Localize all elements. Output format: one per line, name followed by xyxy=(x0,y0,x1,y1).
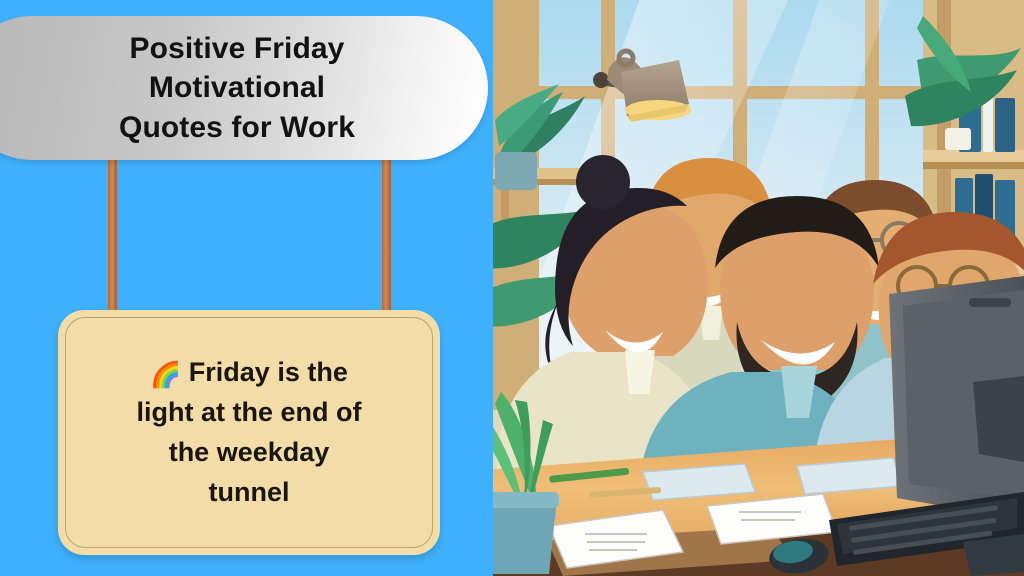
quote-line-2: light at the end of xyxy=(137,397,362,427)
rainbow-icon: 🌈 xyxy=(150,361,181,389)
quote-line-3: the weekday xyxy=(169,437,330,467)
title-banner: Positive Friday Motivational Quotes for … xyxy=(0,16,488,160)
hair-bun xyxy=(576,155,630,209)
title-line-1: Positive Friday Motivational xyxy=(130,32,345,105)
right-post xyxy=(382,140,391,322)
page-title: Positive Friday Motivational Quotes for … xyxy=(0,29,488,148)
title-line-2: Quotes for Work xyxy=(119,111,355,144)
computer-monitor xyxy=(889,276,1024,520)
quote-line-1: Friday is the xyxy=(189,357,348,387)
quote-card: 🌈 Friday is the light at the end of the … xyxy=(58,310,440,555)
poster-canvas: Positive Friday Motivational Quotes for … xyxy=(0,0,1024,576)
monitor-stand xyxy=(973,376,1024,462)
office-team-illustration xyxy=(493,0,1024,576)
quote-line-4: tunnel xyxy=(208,477,289,507)
left-blue-panel: Positive Friday Motivational Quotes for … xyxy=(0,0,493,576)
wall-column xyxy=(493,0,539,410)
left-post xyxy=(108,140,117,322)
quote-text: 🌈 Friday is the light at the end of the … xyxy=(111,353,388,513)
